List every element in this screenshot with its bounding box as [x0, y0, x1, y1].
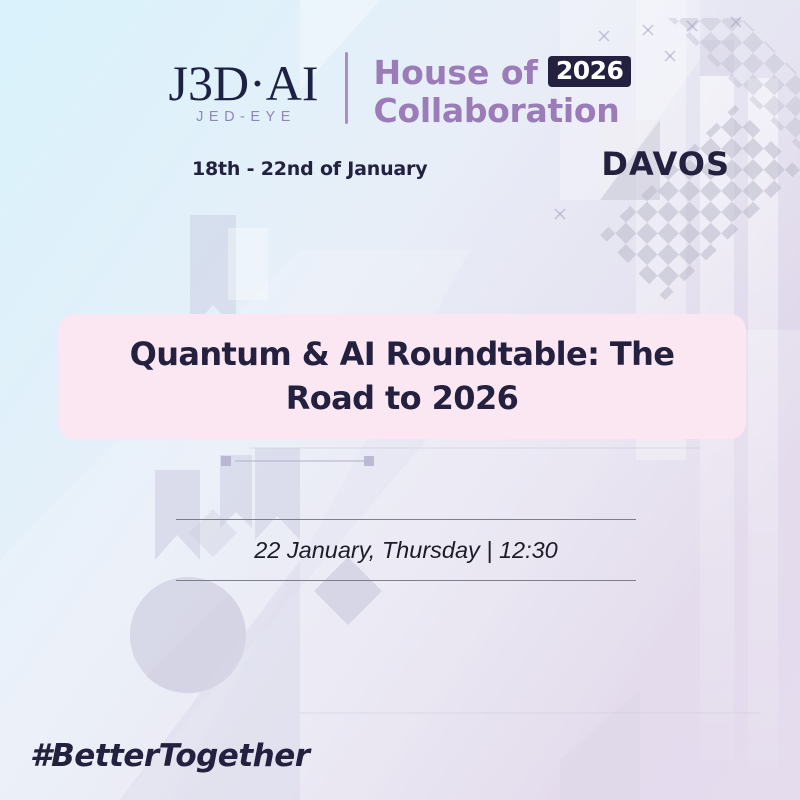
event-dates: 18th - 22nd of January	[192, 158, 427, 180]
event-brand-line-1-row: House of 2026	[374, 54, 632, 92]
poster-header: J3D·AI JED-EYE House of 2026 Collaborati…	[0, 52, 800, 183]
decor-dimension-line	[221, 456, 374, 466]
datetime-rule-top	[176, 519, 636, 520]
session-title-card: Quantum & AI Roundtable: The Road to 202…	[58, 314, 746, 439]
event-brand-line-2: Collaboration	[374, 92, 632, 130]
header-meta-row: 18th - 22nd of January DAVOS	[60, 145, 740, 183]
vertical-divider	[345, 52, 348, 124]
house-of-collaboration-lockup: House of 2026 Collaboration	[374, 52, 632, 131]
brand-row: J3D·AI JED-EYE House of 2026 Collaborati…	[60, 52, 740, 131]
event-poster: J3D·AI JED-EYE House of 2026 Collaborati…	[0, 0, 800, 800]
datetime-rule-bottom	[176, 580, 636, 581]
event-brand-line-1: House of	[374, 54, 538, 92]
logo-wordmark: J3D·AI	[169, 60, 319, 108]
year-badge: 2026	[548, 56, 632, 87]
campaign-hashtag: #BetterTogether	[30, 738, 310, 774]
session-datetime: 22 January, Thursday | 12:30	[176, 520, 636, 580]
j3dai-logo: J3D·AI JED-EYE	[169, 58, 319, 126]
session-datetime-block: 22 January, Thursday | 12:30	[176, 519, 636, 581]
session-title: Quantum & AI Roundtable: The Road to 202…	[84, 333, 720, 420]
logo-tagline: JED-EYE	[191, 109, 296, 125]
event-location: DAVOS	[601, 145, 730, 183]
decor-circle	[130, 577, 246, 693]
